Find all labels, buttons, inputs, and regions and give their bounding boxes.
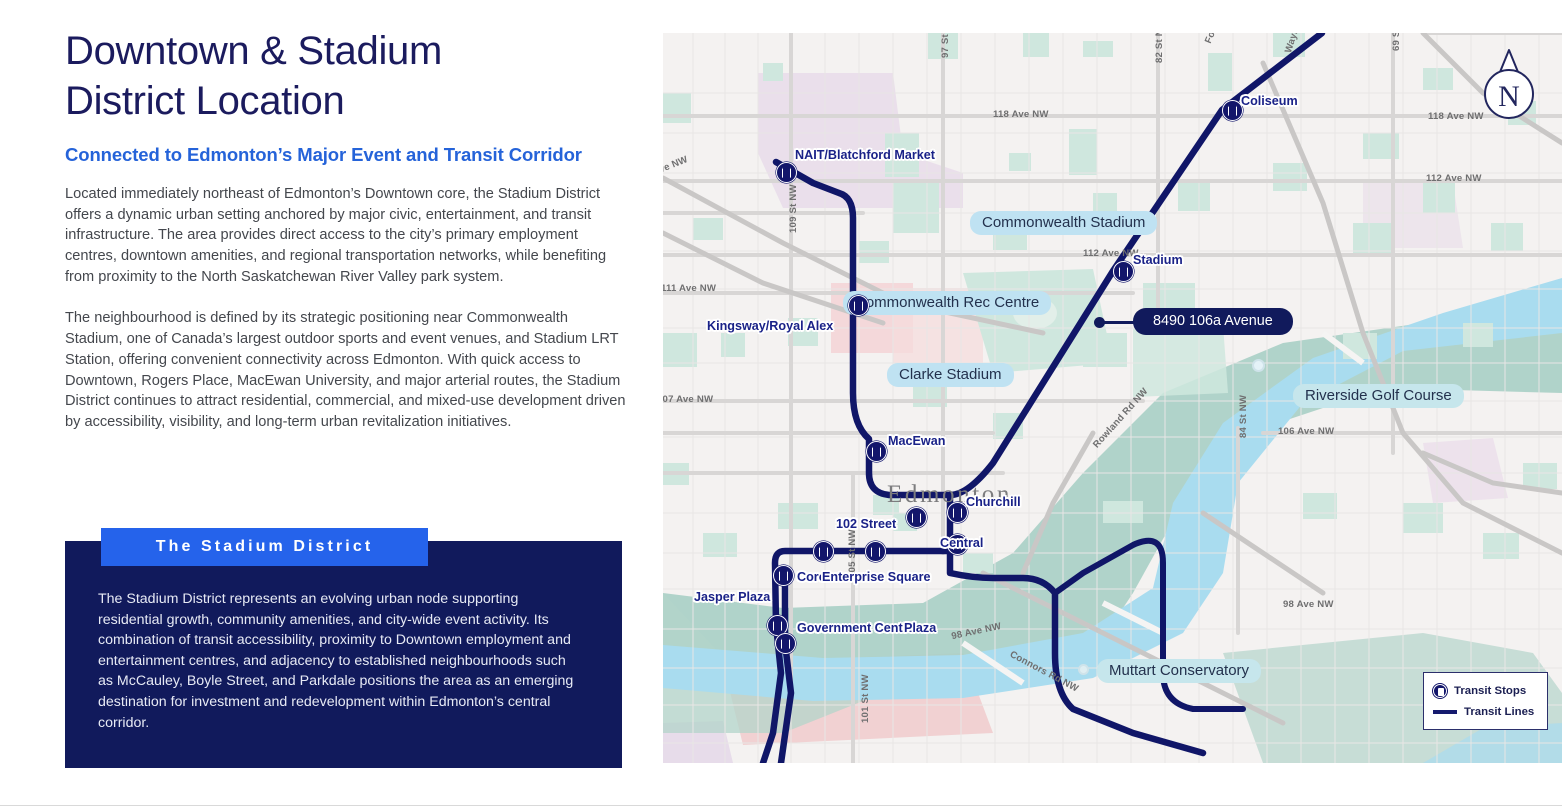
transit-stop-icon[interactable] — [776, 162, 797, 183]
callout-tab-label: The Stadium District — [101, 528, 428, 566]
transit-stop-icon[interactable] — [947, 534, 968, 555]
transit-line-icon — [1433, 710, 1457, 714]
transit-stop-icon[interactable] — [775, 633, 796, 654]
transit-stop-icon[interactable] — [773, 565, 794, 586]
body-paragraph-1: Located immediately northeast of Edmonto… — [65, 184, 627, 288]
transit-stop-icon[interactable] — [1222, 100, 1243, 121]
transit-stop-icon[interactable] — [848, 295, 869, 316]
transit-stop-icon[interactable] — [813, 541, 834, 562]
transit-stop-icon[interactable] — [1113, 261, 1134, 282]
page-title: Downtown & Stadium District Location — [65, 26, 623, 127]
poi-dot-muttart — [1078, 664, 1089, 675]
map-basemap — [663, 33, 1562, 763]
poi-dot-riverside — [1252, 359, 1265, 372]
callout-body-text: The Stadium District represents an evolv… — [98, 589, 576, 733]
legend-label: Transit Lines — [1464, 706, 1534, 718]
slide-page: Downtown & Stadium District Location Con… — [0, 0, 1562, 806]
legend-row-transit-lines: Transit Lines — [1433, 701, 1539, 722]
legend-row-transit-stops: Transit Stops — [1433, 680, 1539, 701]
svg-text:N: N — [1498, 80, 1520, 113]
compass-north-icon: N — [1478, 46, 1540, 122]
map-panel[interactable]: 118 Ave NW 118 Ave NW 112 Ave NW 112 Ave… — [663, 33, 1562, 763]
legend-label: Transit Stops — [1454, 685, 1526, 697]
transit-stop-icon[interactable] — [906, 507, 927, 528]
transit-stop-icon — [1433, 684, 1447, 698]
map-legend: Transit Stops Transit Lines — [1423, 672, 1548, 730]
address-callout-pill: 8490 106a Avenue — [1133, 308, 1293, 335]
transit-stop-icon[interactable] — [865, 541, 886, 562]
transit-stop-icon[interactable] — [947, 502, 968, 523]
transit-stop-icon[interactable] — [866, 441, 887, 462]
page-subtitle: Connected to Edmonton’s Major Event and … — [65, 144, 623, 166]
body-paragraph-2: The neighbourhood is defined by its stra… — [65, 308, 627, 432]
